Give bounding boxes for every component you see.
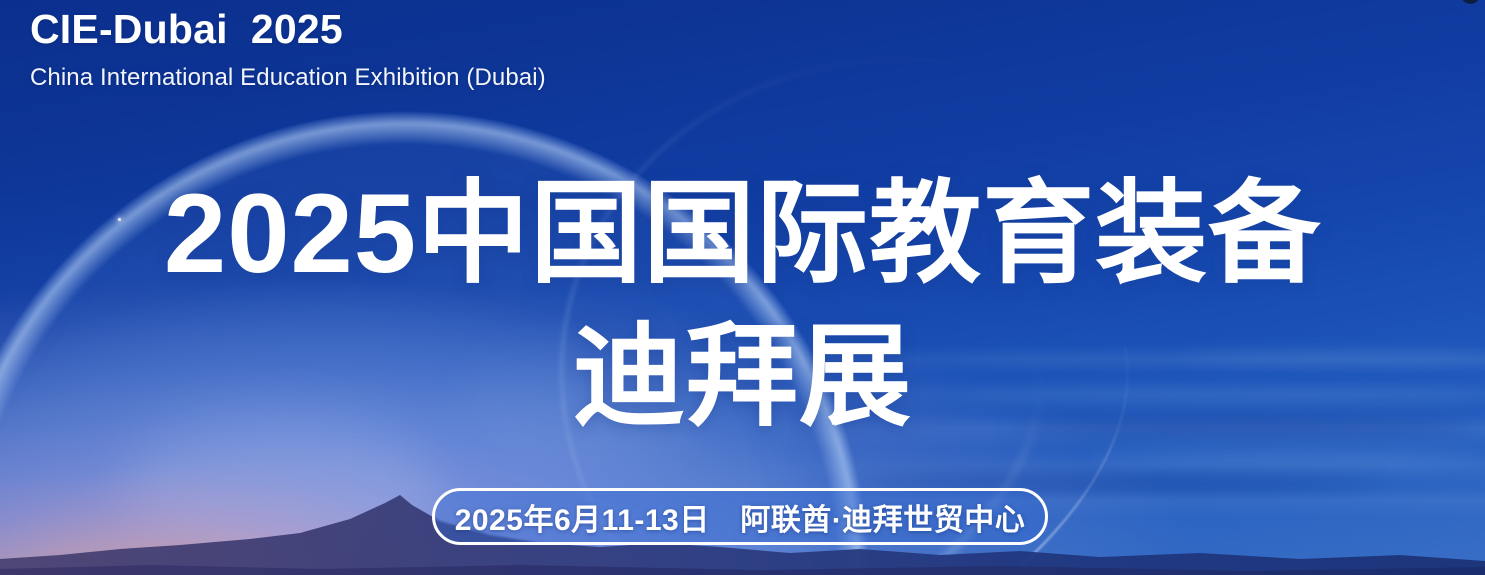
headline-line-1: 2025中国国际教育装备 [0,162,1485,305]
event-info-pill: 2025年6月11-13日 阿联酋·迪拜世贸中心 [432,488,1048,545]
brand-title: CIE-Dubai 2025 [30,6,343,53]
event-banner: CIE-Dubai 2025 China International Educa… [0,0,1485,575]
headline-line-2: 迪拜展 [0,305,1485,448]
page-title: 2025中国国际教育装备 迪拜展 [0,162,1485,449]
brand-subtitle: China International Education Exhibition… [30,64,546,92]
event-info-text: 2025年6月11-13日 阿联酋·迪拜世贸中心 [455,495,1026,539]
